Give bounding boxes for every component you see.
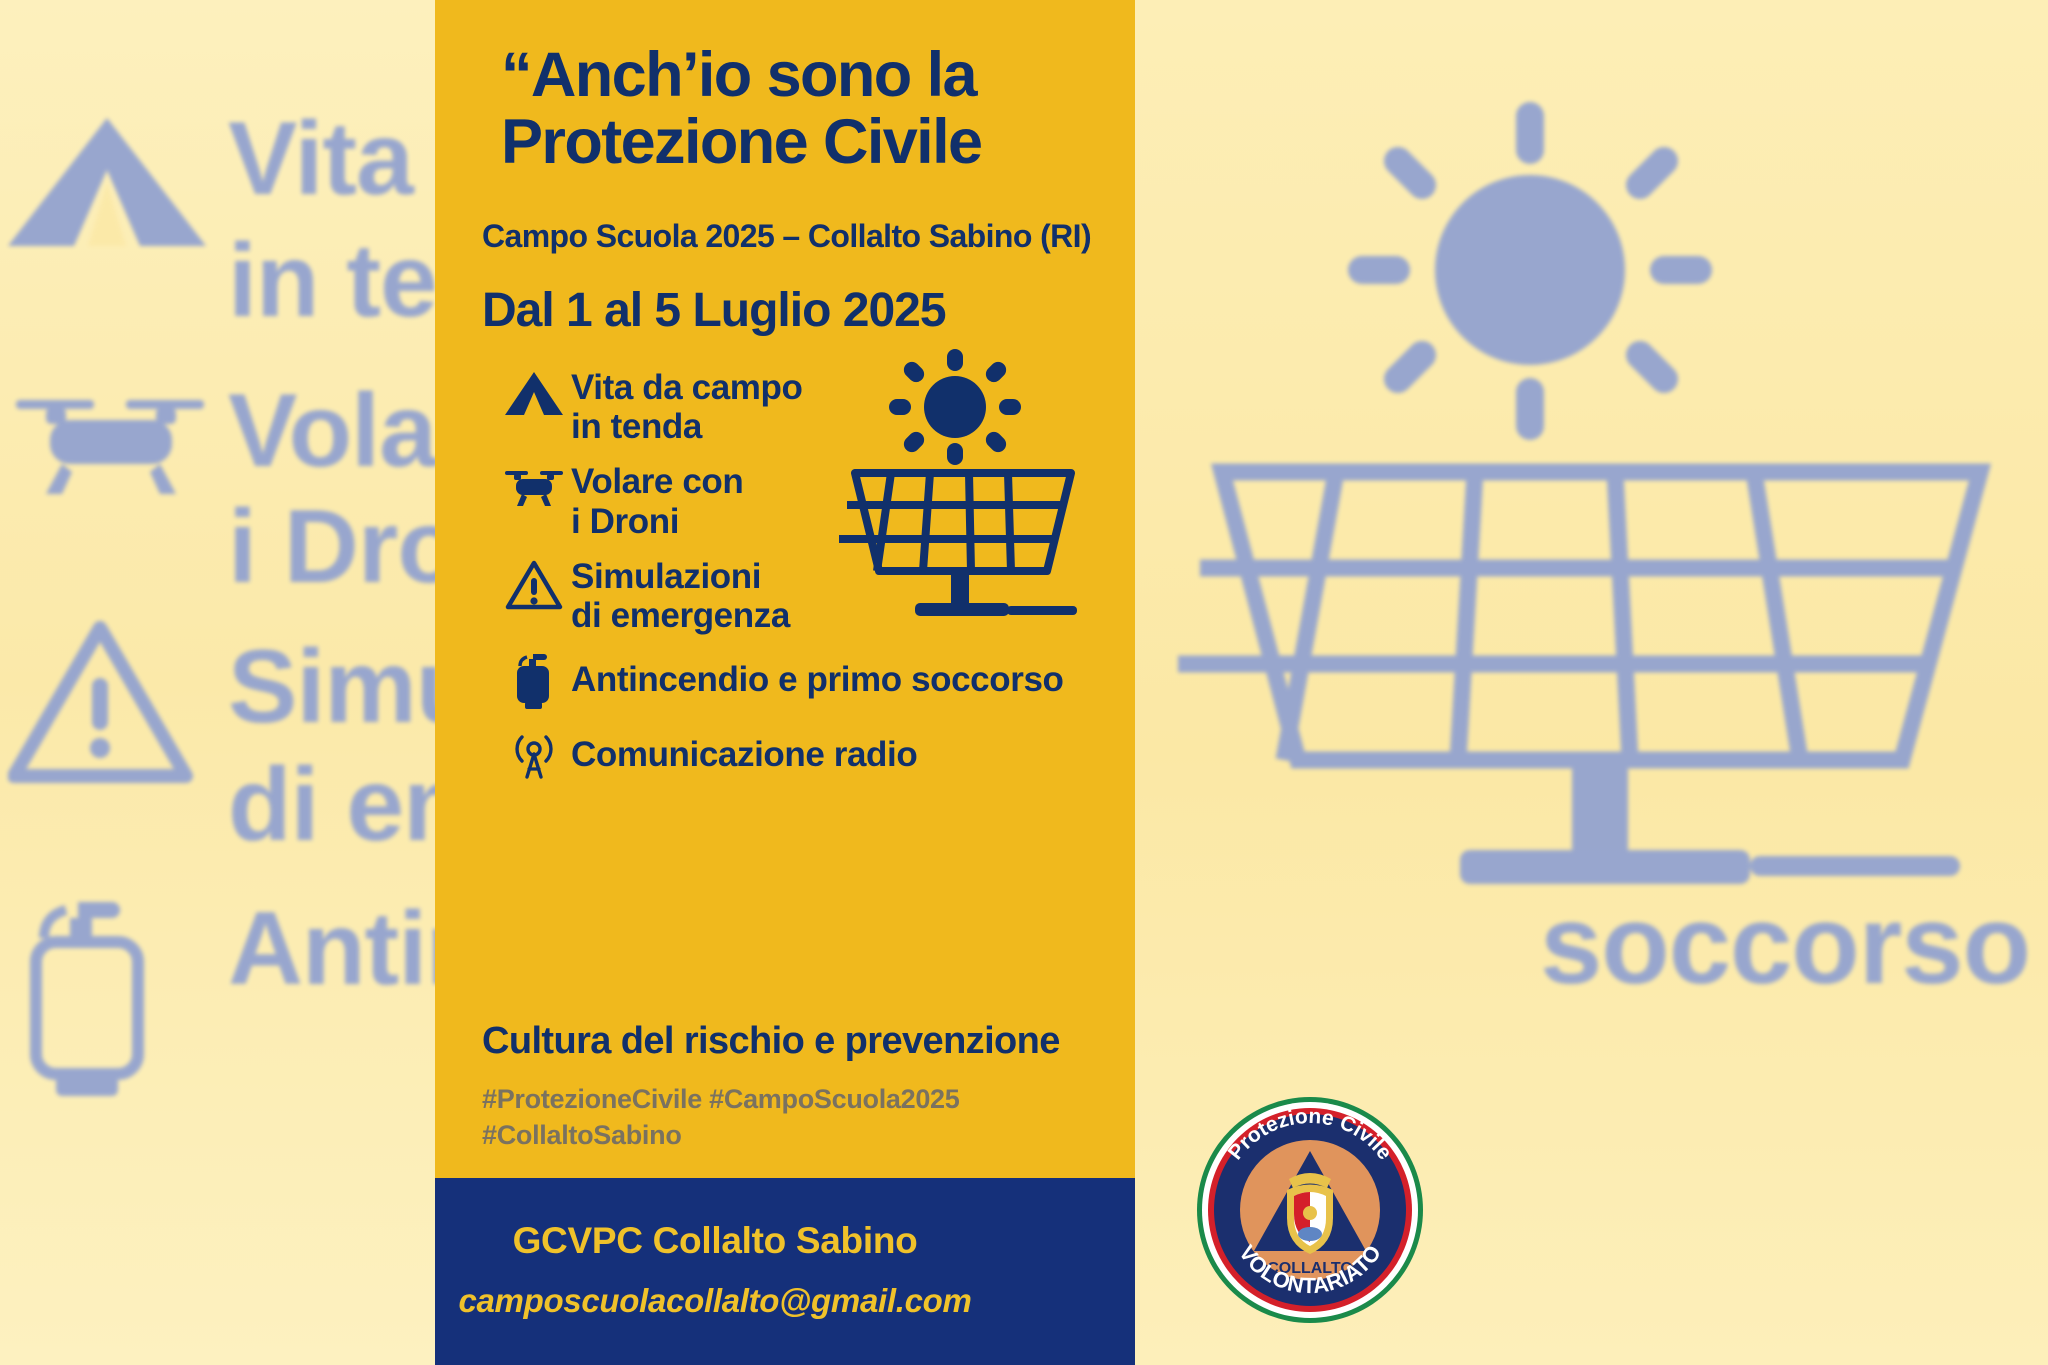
page-title: “Anch’io sono la Protezione Civile — [501, 42, 1121, 176]
activity-line-1: Simulazioni — [571, 557, 790, 596]
fire-extinguisher-icon — [22, 880, 172, 1110]
fire-extinguisher-icon — [497, 645, 571, 711]
hashtags-line-1: #ProtezioneCivile #CampoScuola2025 — [482, 1082, 960, 1118]
background-text-droni: i Dro — [228, 488, 460, 607]
title-line-2: Protezione Civile — [501, 109, 1121, 176]
tent-icon — [0, 112, 215, 252]
list-item: Simulazioni di emergenza — [497, 555, 1135, 635]
list-item: Antincendio e primo soccorso — [497, 645, 1135, 711]
activity-line-1: Vita da campo — [571, 368, 802, 407]
poster-panel: “Anch’io sono la Protezione Civile Campo… — [435, 0, 1135, 1365]
poster-screenshot: Vita d in ten Volar i Dro Simu di em Ant… — [0, 0, 2048, 1365]
list-item: Vita da campo in tenda — [497, 366, 1135, 446]
activities-list: Vita da campo in tenda — [497, 366, 1135, 791]
activity-label: Vita da campo in tenda — [571, 366, 802, 446]
drone-icon — [8, 372, 213, 502]
activity-line-2: i Droni — [571, 502, 743, 541]
culture-line: Cultura del rischio e prevenzione — [482, 1020, 1060, 1063]
warning-triangle-icon — [497, 555, 571, 611]
list-item: Volare con i Droni — [497, 460, 1135, 540]
solar-panel-with-sun-icon — [1160, 60, 2040, 920]
activity-line-2: in tenda — [571, 407, 802, 446]
radio-antenna-icon — [497, 725, 571, 781]
footer-band: GCVPC Collalto Sabino camposcuolacollalt… — [435, 1178, 1135, 1365]
poster-dateline: Dal 1 al 5 Luglio 2025 — [482, 283, 946, 338]
list-item: Comunicazione radio — [497, 725, 1135, 781]
activity-label: Simulazioni di emergenza — [571, 555, 790, 635]
protezione-civile-badge-logo: COLLALTO SABINO Protezione Civile VOLONT… — [1195, 1095, 1425, 1325]
activity-line-1: Volare con — [571, 462, 743, 501]
activity-line-2: di emergenza — [571, 596, 790, 635]
contact-email[interactable]: camposcuolacollalto@gmail.com — [435, 1282, 995, 1320]
activity-label: Antincendio e primo soccorso — [571, 658, 1064, 699]
activity-label: Volare con i Droni — [571, 460, 743, 540]
tent-icon — [497, 366, 571, 418]
poster-subtitle: Campo Scuola 2025 – Collalto Sabino (RI) — [482, 218, 1091, 255]
drone-icon — [497, 460, 571, 510]
activity-label: Comunicazione radio — [571, 733, 917, 774]
hashtags-line-2: #CollaltoSabino — [482, 1118, 960, 1154]
title-line-1: “Anch’io sono la — [501, 42, 1121, 109]
organization-name: GCVPC Collalto Sabino — [435, 1220, 995, 1262]
warning-triangle-icon — [8, 620, 193, 785]
hashtags: #ProtezioneCivile #CampoScuola2025 #Coll… — [482, 1082, 960, 1153]
